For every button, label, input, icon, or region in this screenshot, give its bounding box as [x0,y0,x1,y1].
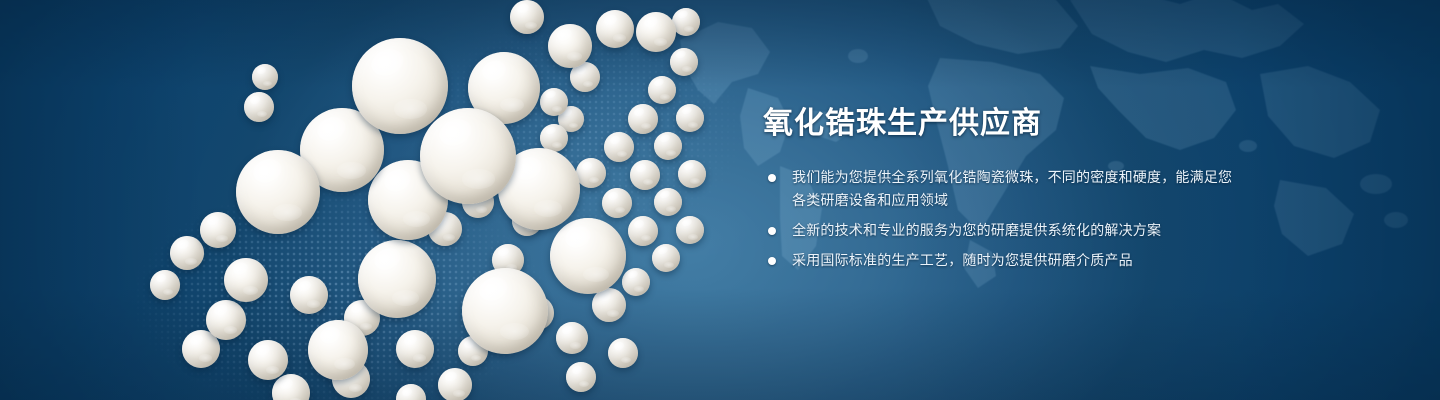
zirconia-bead [308,320,368,380]
feature-bullet-list: 我们能为您提供全系列氧化锆陶瓷微珠，不同的密度和硬度，能满足您各类研磨设备和应用… [763,166,1233,272]
banner-text-block: 氧化锆珠生产供应商 我们能为您提供全系列氧化锆陶瓷微珠，不同的密度和硬度，能满足… [763,104,1233,272]
zirconia-bead [550,218,626,294]
list-item-label: 全新的技术和专业的服务为您的研磨提供系统化的解决方案 [792,222,1161,238]
zirconia-bead [224,258,268,302]
page-title: 氧化锆珠生产供应商 [763,104,1233,144]
list-item-label: 我们能为您提供全系列氧化锆陶瓷微珠，不同的密度和硬度，能满足您各类研磨设备和应用… [792,169,1232,208]
zirconia-bead [438,368,472,400]
zirconia-bead [556,322,588,354]
zirconia-bead [654,188,682,216]
filled-circle-bullet-icon [768,174,776,182]
zirconia-bead [396,330,434,368]
zirconia-bead [396,384,426,400]
list-item: 全新的技术和专业的服务为您的研磨提供系统化的解决方案 [763,219,1233,242]
zirconia-bead [596,10,634,48]
zirconia-bead [236,150,320,234]
zirconia-bead [170,236,204,270]
zirconia-bead [648,76,676,104]
zirconia-bead [150,270,180,300]
zirconia-bead [352,38,448,134]
zirconia-bead [636,12,676,52]
zirconia-bead [670,48,698,76]
hero-banner: 氧化锆珠生产供应商 我们能为您提供全系列氧化锆陶瓷微珠，不同的密度和硬度，能满足… [0,0,1440,400]
zirconia-bead [566,362,596,392]
zirconia-bead [206,300,246,340]
zirconia-bead [622,268,650,296]
zirconia-bead [244,92,274,122]
zirconia-bead [602,188,632,218]
zirconia-bead [608,338,638,368]
zirconia-bead [628,216,658,246]
zirconia-bead [420,108,516,204]
zirconia-bead [272,374,310,400]
zirconia-bead [628,104,658,134]
zirconia-bead [630,160,660,190]
zirconia-bead [672,8,700,36]
zirconia-bead [290,276,328,314]
zirconia-bead [248,340,288,380]
list-item-label: 采用国际标准的生产工艺，随时为您提供研磨介质产品 [792,252,1133,268]
zirconia-bead [548,24,592,68]
list-item: 我们能为您提供全系列氧化锆陶瓷微珠，不同的密度和硬度，能满足您各类研磨设备和应用… [763,166,1233,212]
zirconia-bead [358,240,436,318]
zirconia-bead [604,132,634,162]
zirconia-bead [592,288,626,322]
zirconia-bead [462,268,548,354]
zirconia-bead [676,104,704,132]
filled-circle-bullet-icon [768,227,776,235]
list-item: 采用国际标准的生产工艺，随时为您提供研磨介质产品 [763,249,1233,272]
zirconia-bead [652,244,680,272]
zirconia-bead [252,64,278,90]
zirconia-bead [510,0,544,34]
zirconia-bead [540,88,568,116]
filled-circle-bullet-icon [768,257,776,265]
zirconia-bead [654,132,682,160]
zirconia-bead [676,216,704,244]
zirconia-bead [678,160,706,188]
zirconia-bead [200,212,236,248]
zirconia-bead [576,158,606,188]
